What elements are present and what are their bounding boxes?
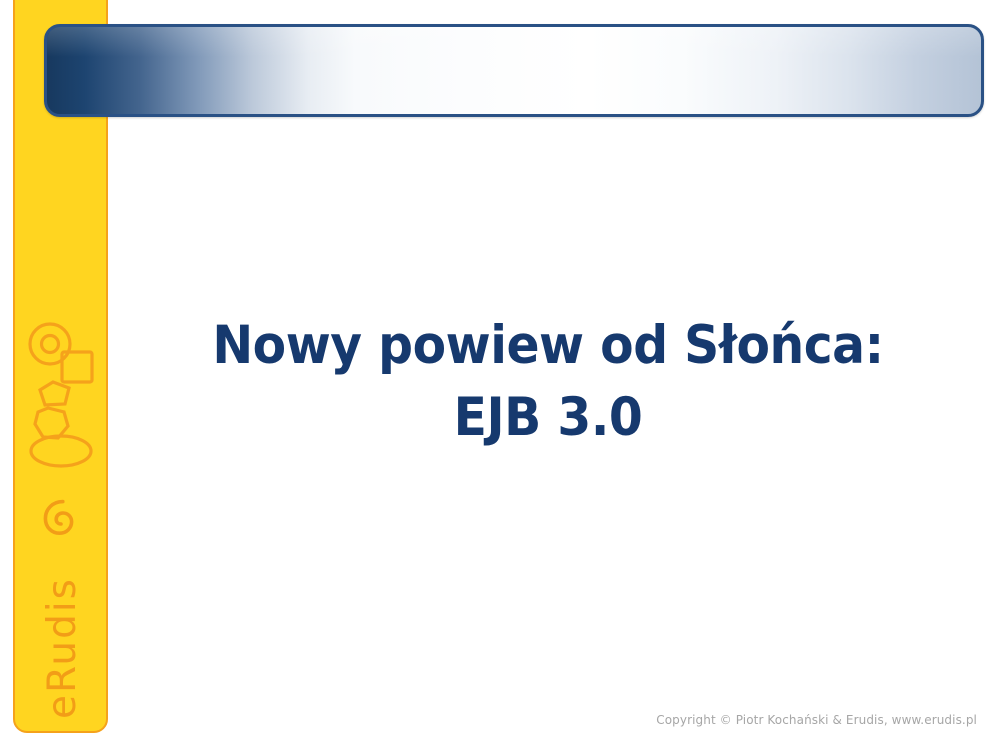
page-title-line-2: EJB 3.0 (152, 382, 943, 454)
presentation-slide: eRudis Nowy powiew od Słońca: EJB 3.0 Co… (0, 0, 992, 743)
erudis-wordmark: eRudis (33, 538, 93, 743)
copyright-notice: Copyright © Piotr Kochański & Erudis, ww… (656, 713, 977, 727)
erudis-shapes-logo (23, 320, 103, 470)
title-banner (44, 24, 984, 117)
page-title: Nowy powiew od Słońca: EJB 3.0 (118, 310, 978, 454)
page-title-line-1: Nowy powiew od Słońca: (152, 310, 943, 382)
